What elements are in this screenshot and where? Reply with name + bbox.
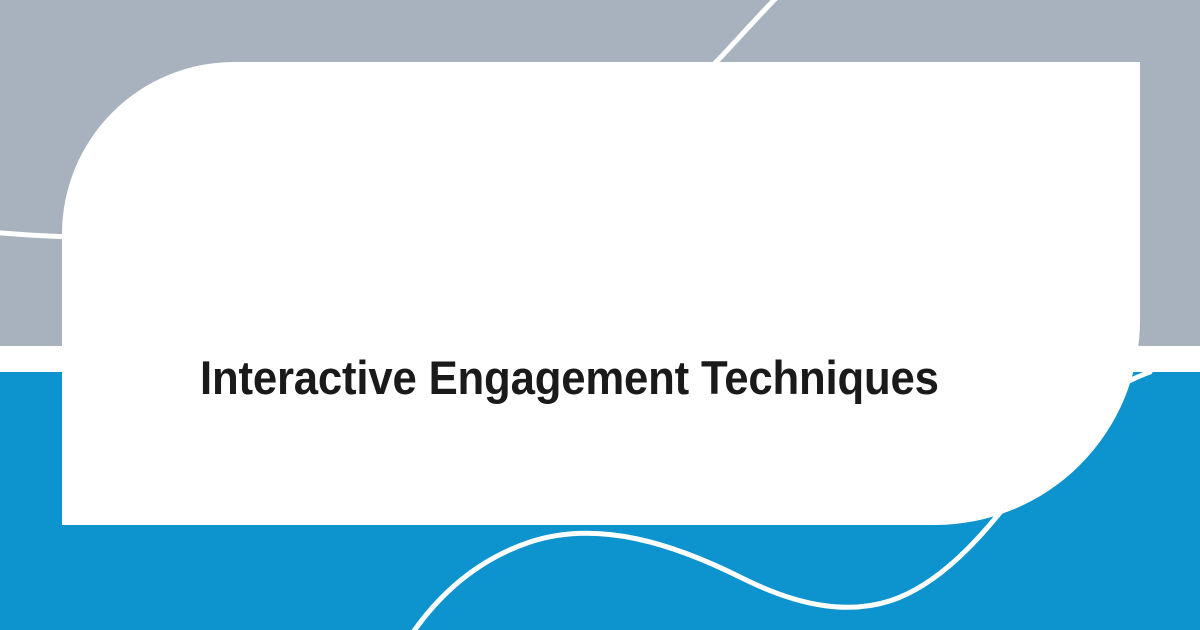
content-card: Interactive Engagement Techniques: [62, 62, 1140, 525]
page-title: Interactive Engagement Techniques: [200, 350, 1018, 406]
banner-canvas: Interactive Engagement Techniques: [0, 0, 1200, 630]
